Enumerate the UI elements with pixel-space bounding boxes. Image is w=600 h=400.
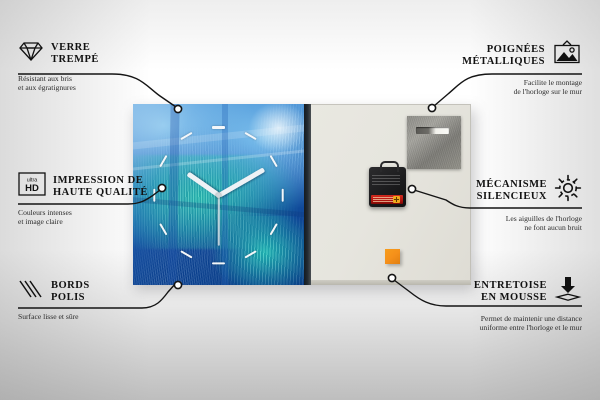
mechanism-label-text: [372, 175, 400, 186]
callout-subtitle-line2: de l'horloge sur le mur: [412, 87, 582, 96]
svg-text:HD: HD: [25, 183, 39, 194]
gear-icon: [554, 174, 582, 207]
clock-tick: [281, 189, 283, 202]
callout-title-line2: EN MOUSSE: [474, 292, 547, 304]
callout-subtitle-line2: uniforme entre l'horloge et le mur: [402, 323, 582, 332]
callout-bords-polis: BORDS POLIS Surface lisse et sûre: [18, 278, 168, 321]
callout-title-line1: POIGNÉES: [462, 44, 545, 56]
diagonal-lines-icon: [18, 278, 44, 305]
metal-grain-texture: [407, 116, 461, 169]
callout-title-line2: POLIS: [51, 292, 90, 304]
callout-subtitle-line1: Permet de maintenir une distance: [402, 314, 582, 323]
clock-tick: [212, 262, 225, 264]
callout-mecanisme-silencieux: MÉCANISME SILENCIEUX Les aiguilles de l'…: [412, 174, 582, 233]
foam-spacer: [385, 249, 400, 264]
callout-title-line2: TREMPÉ: [51, 54, 99, 66]
callout-subtitle-line1: Les aiguilles de l'horloge: [412, 214, 582, 223]
callout-poignees-metalliques: POIGNÉES MÉTALLIQUES Facilite le montage…: [412, 40, 582, 97]
callout-verre-trempe: VERRE TREMPÉ Résistant aux bris et aux é…: [18, 40, 168, 93]
callout-title-line1: IMPRESSION DE: [53, 175, 148, 187]
callout-title-line1: MÉCANISME: [476, 179, 547, 191]
callout-title-line2: HAUTE QUALITÉ: [53, 187, 148, 199]
clock-center-hub: [216, 193, 221, 198]
down-arrow-foam-icon: [554, 276, 582, 307]
clock-second-hand: [218, 195, 220, 245]
callout-subtitle-line2: et image claire: [18, 217, 178, 226]
battery-text: [373, 197, 395, 202]
callout-subtitle-line2: ne font aucun bruit: [412, 223, 582, 232]
clock-mechanism: [369, 167, 406, 207]
callout-title-line1: VERRE: [51, 42, 99, 54]
keyhole-slot: [416, 127, 449, 134]
infographic-canvas: VERRE TREMPÉ Résistant aux bris et aux é…: [0, 0, 600, 400]
callout-subtitle-line1: Résistant aux bris: [18, 74, 168, 83]
callout-title-line1: BORDS: [51, 280, 90, 292]
callout-impression-haute-qualite: ultra HD IMPRESSION DE HAUTE QUALITÉ Cou…: [18, 172, 178, 227]
callout-title-line1: ENTRETOISE: [474, 280, 547, 292]
battery: [371, 195, 403, 204]
diamond-icon: [18, 40, 44, 67]
callout-subtitle-line1: Couleurs intenses: [18, 208, 178, 217]
panel-spine-edge: [303, 104, 311, 285]
callout-subtitle-line1: Surface lisse et sûre: [18, 312, 168, 321]
callout-title-line2: SILENCIEUX: [476, 191, 547, 203]
picture-frame-hook-icon: [552, 40, 582, 71]
mechanism-hanger-loop: [380, 161, 399, 172]
callout-subtitle-line1: Facilite le montage: [412, 78, 582, 87]
metal-hanger-plate: [407, 116, 461, 169]
callout-subtitle-line2: et aux égratignures: [18, 83, 168, 92]
battery-plus-terminal: [393, 196, 400, 203]
callout-title-line2: MÉTALLIQUES: [462, 56, 545, 68]
ultra-hd-icon: ultra HD: [18, 172, 46, 201]
callout-entretoise-en-mousse: ENTRETOISE EN MOUSSE Permet de maintenir…: [402, 276, 582, 333]
